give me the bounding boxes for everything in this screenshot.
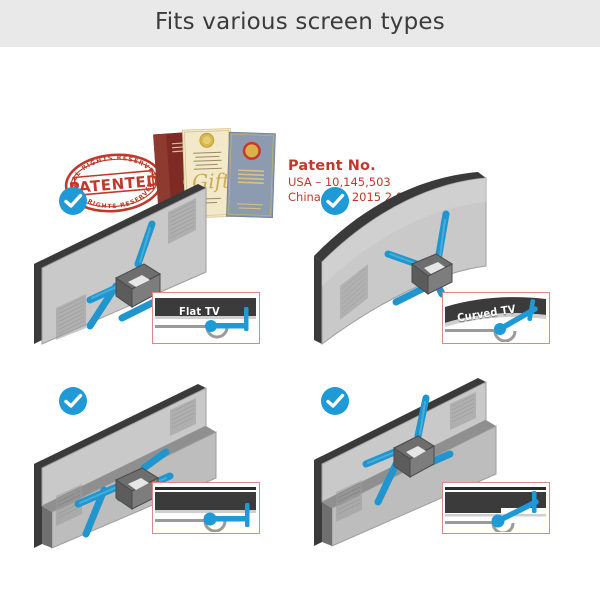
patent-zone: ALL RIGHTS RESERVED ALL RIGHTS RESERVED … [0,60,600,165]
product-infographic: Fits various screen types ALL RIGHTS RES… [0,0,600,600]
panel-angled-back-tv [300,368,580,566]
check-badge-icon [58,186,88,216]
panel-curved-tv: Curved TV [300,168,580,366]
inset-detail-curved-tv: Curved TV [442,292,550,344]
check-badge-icon [320,386,350,416]
check-badge-icon [58,386,88,416]
tv-compatibility-grid: Flat TV [0,168,600,568]
header-banner: Fits various screen types [0,0,600,47]
panel-thick-back-tv [20,368,300,566]
check-badge-icon [320,186,350,216]
page-title: Fits various screen types [0,9,600,35]
inset-detail-thick-back [152,482,260,534]
inset-detail-angled-back [442,482,550,534]
panel-flat-tv: Flat TV [20,168,300,366]
inset-label-flat-tv: Flat TV [179,305,220,318]
inset-detail-flat-tv: Flat TV [152,292,260,344]
